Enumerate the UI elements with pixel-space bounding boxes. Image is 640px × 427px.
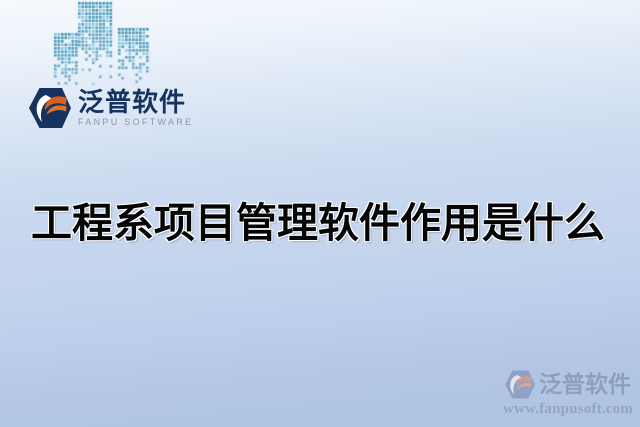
brand-name-en: FANPU SOFTWARE xyxy=(78,117,193,128)
pixel-city-skyline-graphic xyxy=(52,0,160,88)
watermark-url: www.fanpusoft.com xyxy=(503,401,637,418)
brand-name-cn: 泛普软件 xyxy=(78,88,186,116)
watermark: 泛普软件 www.fanpusoft.com xyxy=(503,368,637,420)
fanpu-hexagon-logo-watermark-icon xyxy=(503,369,536,400)
brand-logo: 泛普软件 FANPU SOFTWARE xyxy=(26,86,193,130)
watermark-name-cn: 泛普软件 xyxy=(539,372,631,397)
page-title: 工程系项目管理软件作用是什么 xyxy=(31,196,615,250)
page-canvas: 泛普软件 FANPU SOFTWARE 工程系项目管理软件作用是什么 泛普软件 … xyxy=(0,0,640,427)
fanpu-hexagon-logo-icon xyxy=(26,86,72,130)
watermark-logo-row: 泛普软件 xyxy=(503,368,637,401)
brand-wordmark: 泛普软件 FANPU SOFTWARE xyxy=(78,88,193,128)
